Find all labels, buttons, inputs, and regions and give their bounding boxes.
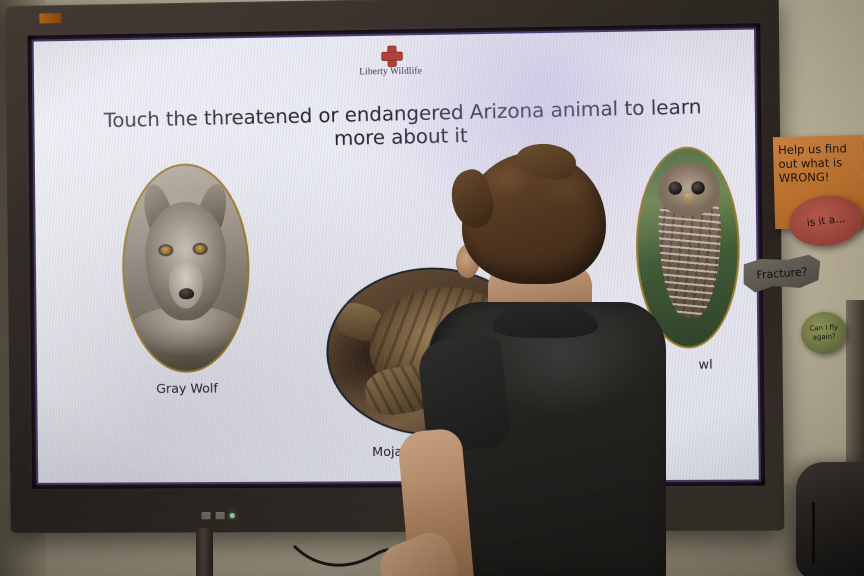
person-student bbox=[396, 152, 696, 576]
spotted-owl-caption: wl bbox=[698, 356, 712, 371]
liberty-wildlife-logo: Liberty Wildlife bbox=[34, 40, 755, 82]
wall-note-is-it-a-text: is it a... bbox=[806, 212, 846, 229]
power-led-icon bbox=[230, 513, 235, 518]
display-stand-leg bbox=[196, 528, 213, 576]
menu-button[interactable] bbox=[216, 512, 225, 519]
gray-wolf-photo[interactable] bbox=[121, 163, 250, 373]
logo-brand-text: Liberty Wildlife bbox=[359, 65, 422, 76]
gray-wolf-caption: Gray Wolf bbox=[156, 380, 218, 396]
wolf-eye-left bbox=[160, 246, 171, 254]
red-cross-icon bbox=[381, 46, 401, 66]
wolf-nose bbox=[179, 288, 194, 299]
wall-note-can-i-text: Can I fly again? bbox=[801, 323, 848, 342]
bezel-sticker-icon bbox=[39, 13, 61, 23]
power-button[interactable] bbox=[201, 512, 210, 519]
wall-note-help-text: Help us find out what is WRONG! bbox=[778, 141, 859, 185]
wall-note-fracture-text: Fracture? bbox=[756, 266, 808, 283]
hanging-coat bbox=[796, 462, 864, 576]
display-control-buttons[interactable] bbox=[201, 511, 282, 520]
scene-root: Liberty Wildlife Touch the threatened or… bbox=[0, 0, 864, 576]
animal-card-gray-wolf[interactable]: Gray Wolf bbox=[121, 163, 250, 373]
wolf-eye-right bbox=[195, 245, 206, 253]
wolf-illustration bbox=[123, 165, 248, 371]
